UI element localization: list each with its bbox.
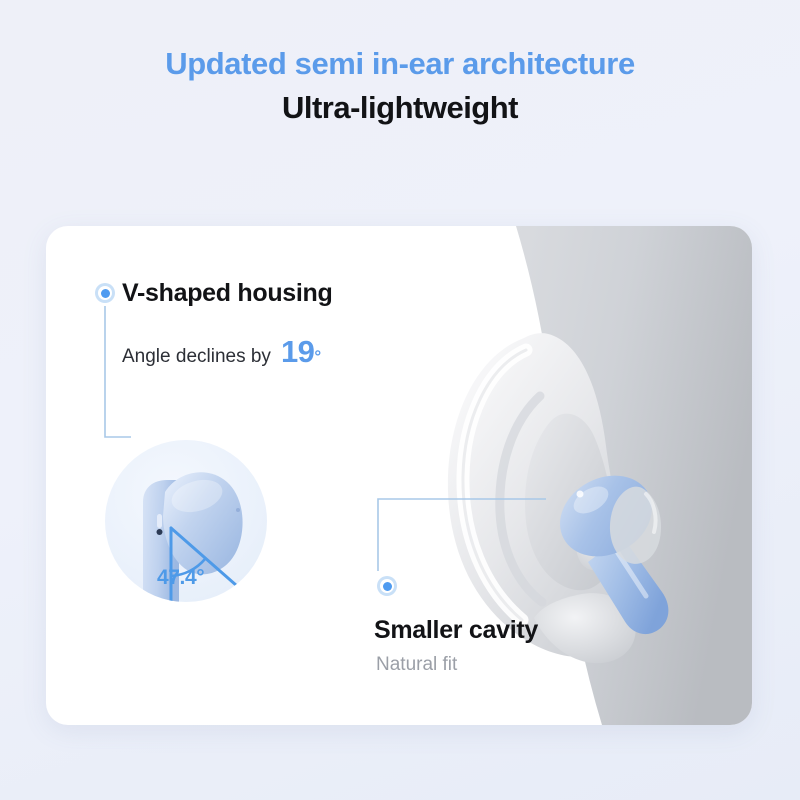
feature-caption-natural-fit: Natural fit — [376, 654, 457, 676]
degree-symbol-icon: ° — [314, 347, 321, 367]
headline-block: Updated semi in-ear architecture Ultra-l… — [0, 46, 800, 125]
feature-sub-angle-declines: Angle declines by 19 ° — [122, 334, 321, 370]
angle-value: 19 — [281, 334, 314, 370]
target-bullet-icon-smaller-cavity — [377, 576, 397, 596]
target-bullet-icon-v-shaped — [95, 283, 115, 303]
feature-card: V-shaped housing Angle declines by 19 ° … — [46, 226, 752, 725]
earbud-angle-detail-inset: 47.4° — [105, 440, 267, 602]
feature-title-smaller-cavity: Smaller cavity — [374, 616, 538, 645]
headline-secondary: Ultra-lightweight — [0, 90, 800, 126]
angle-prefix-label: Angle declines by — [122, 346, 271, 368]
headline-primary: Updated semi in-ear architecture — [0, 46, 800, 82]
feature-title-v-shaped-housing: V-shaped housing — [122, 279, 333, 308]
inset-angle-label: 47.4° — [157, 566, 204, 590]
